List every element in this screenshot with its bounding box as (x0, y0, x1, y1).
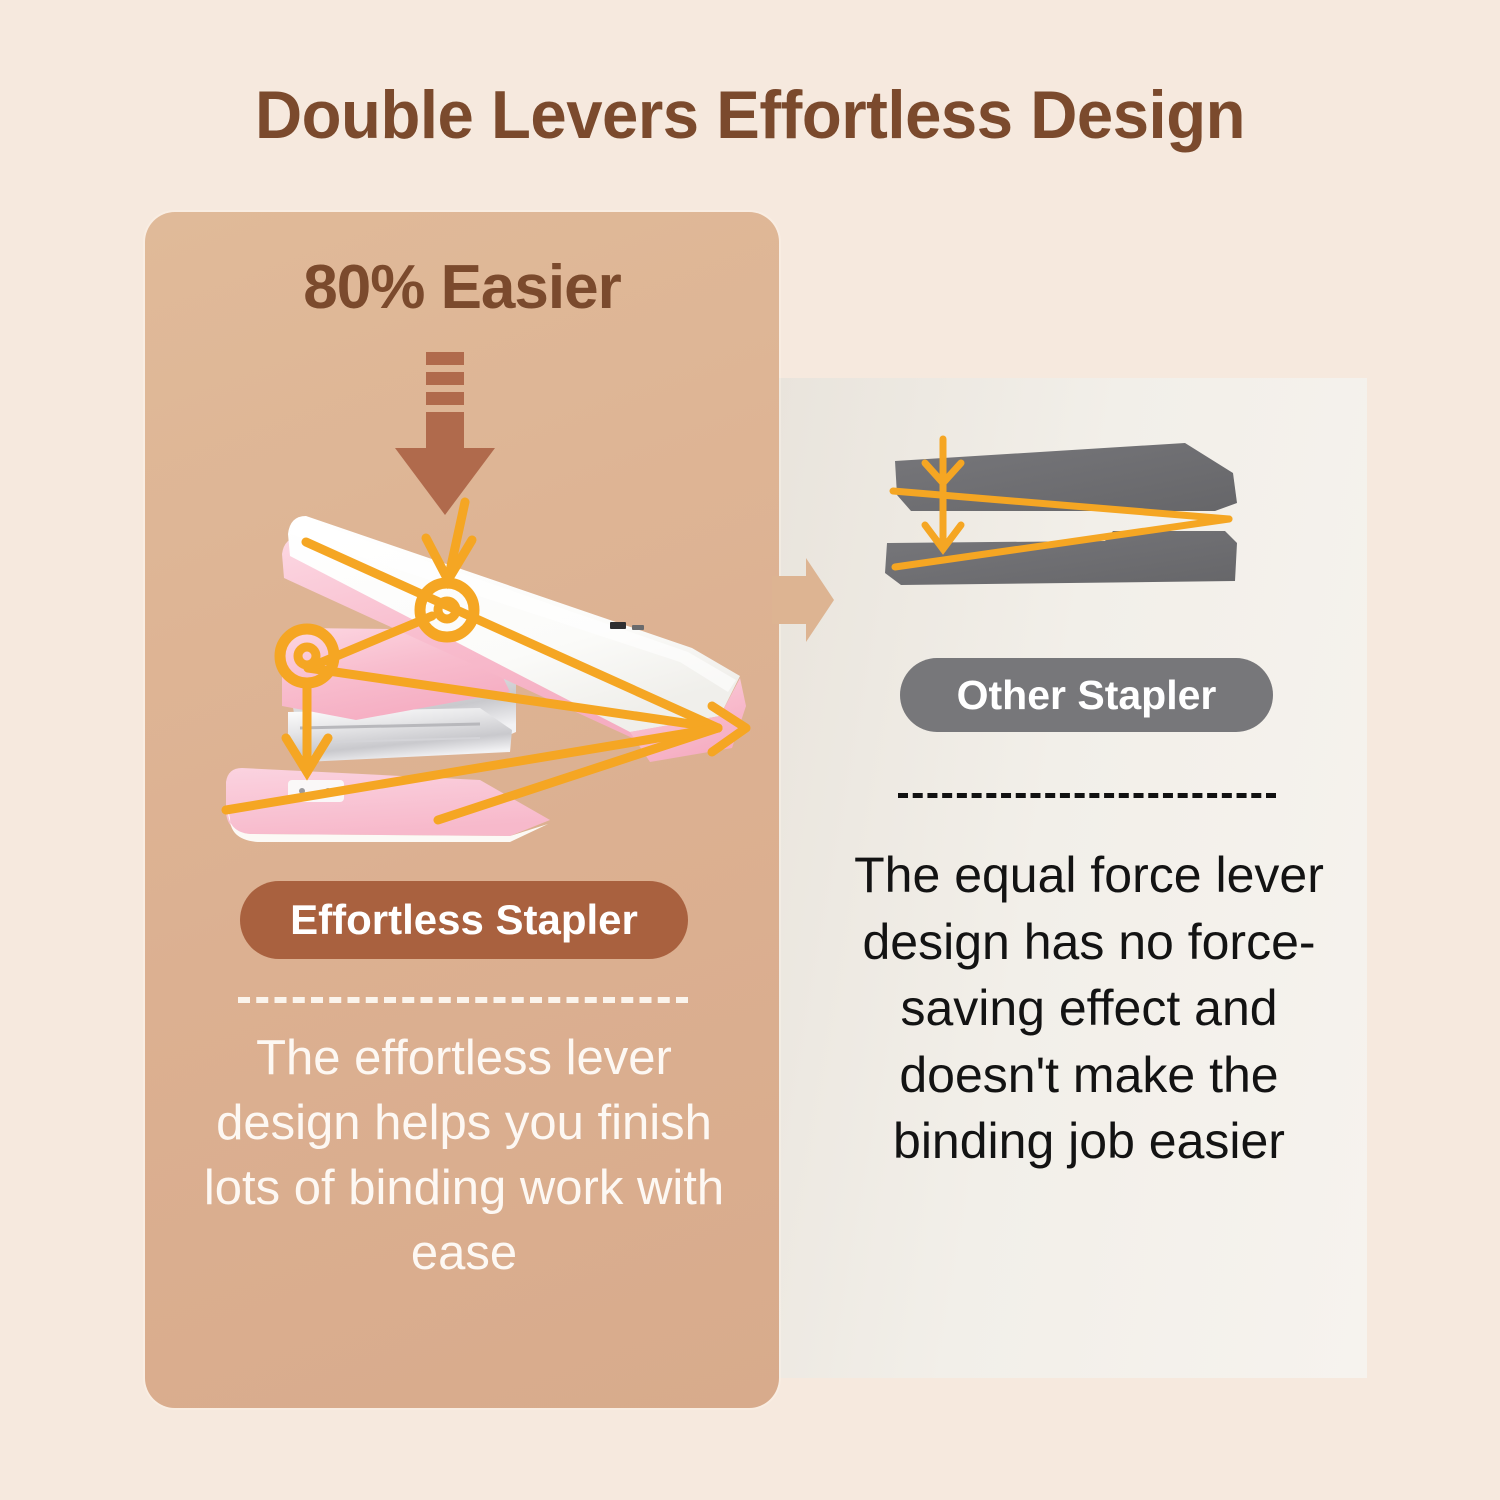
right-dashed-divider (898, 793, 1276, 798)
pink-effortless-stapler-illustration (180, 480, 760, 860)
infographic-stage: Double Levers Effortless Design Other St… (0, 0, 1500, 1500)
gray-other-stapler-illustration (885, 425, 1285, 620)
easier-headline: 80% Easier (145, 252, 779, 323)
effortless-stapler-badge: Effortless Stapler (240, 881, 688, 959)
effortless-stapler-description: The effortless lever design helps you fi… (190, 1026, 738, 1287)
other-stapler-badge: Other Stapler (900, 658, 1273, 732)
right-arrow-connector-icon (772, 558, 834, 642)
page-title: Double Levers Effortless Design (30, 76, 1470, 154)
left-dashed-divider (238, 997, 688, 1003)
other-stapler-description: The equal force lever design has no forc… (845, 842, 1333, 1175)
